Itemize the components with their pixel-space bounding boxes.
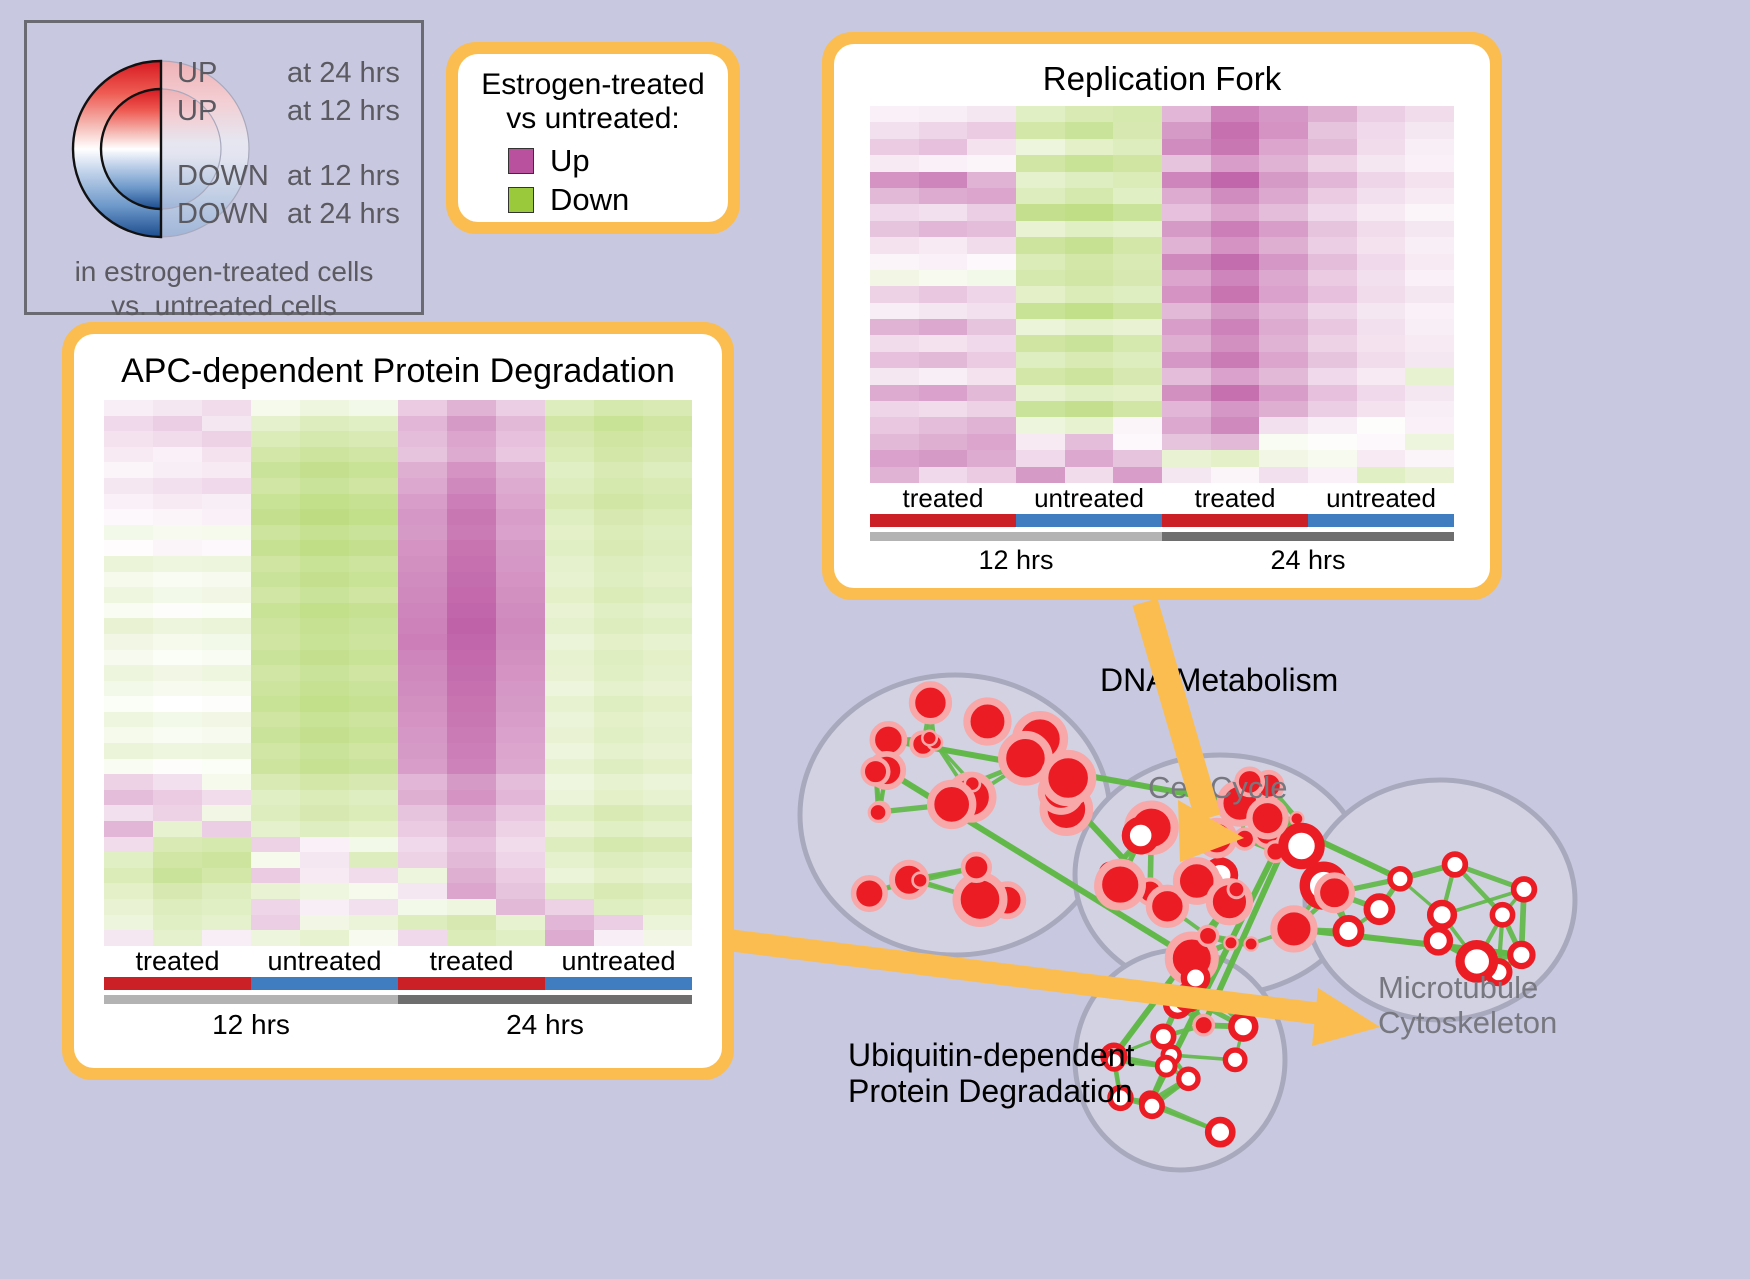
heatmap-cell xyxy=(349,618,398,634)
heatmap-cell xyxy=(967,303,1016,319)
heatmap-cell xyxy=(870,254,919,270)
heatmap-cell xyxy=(251,634,300,650)
heatmap-cell xyxy=(153,790,202,806)
heatmap-cell xyxy=(202,462,251,478)
heatmap-cell xyxy=(594,930,643,946)
heatmap-cell xyxy=(349,743,398,759)
network-node[interactable] xyxy=(1228,881,1245,898)
heatmap-cell xyxy=(398,650,447,666)
heatmap-cell xyxy=(153,915,202,931)
heatmap-cell xyxy=(594,852,643,868)
heatmap-cell xyxy=(349,821,398,837)
heatmap-cell xyxy=(1113,106,1162,122)
network-node[interactable] xyxy=(1044,754,1092,802)
heatmap-cell xyxy=(1162,368,1211,384)
heatmap-cell xyxy=(1405,270,1454,286)
heatmap-cell xyxy=(349,665,398,681)
heatmap-cell xyxy=(967,286,1016,302)
heatmap-cell xyxy=(919,319,968,335)
heatmap-cell xyxy=(1113,204,1162,220)
heatmap-cell xyxy=(153,540,202,556)
heatmap-cell xyxy=(300,883,349,899)
heatmap-cell xyxy=(643,681,692,697)
network-node[interactable] xyxy=(1445,854,1466,875)
legend-item-down: Down xyxy=(508,182,710,218)
heatmap-cell xyxy=(447,712,496,728)
label-line-2: Cytoskeleton xyxy=(1378,1005,1557,1040)
heatmap-cell xyxy=(1259,352,1308,368)
heatmap-cell xyxy=(251,556,300,572)
network-node[interactable] xyxy=(922,731,937,746)
heatmap-cell xyxy=(1405,106,1454,122)
heatmap-cell xyxy=(1162,467,1211,483)
heatmap-cell xyxy=(919,106,968,122)
network-node[interactable] xyxy=(1430,903,1454,927)
heatmap-cell xyxy=(447,478,496,494)
heatmap-cell xyxy=(202,540,251,556)
heatmap-cell xyxy=(349,587,398,603)
heatmap-cell xyxy=(870,172,919,188)
heatmap-cell xyxy=(398,603,447,619)
network-node[interactable] xyxy=(1225,1050,1245,1070)
heatmap-cell xyxy=(545,509,594,525)
heatmap-cell xyxy=(545,478,594,494)
heatmap-cell xyxy=(594,790,643,806)
heatmap-cell xyxy=(1357,467,1406,483)
heatmap-cell xyxy=(1113,155,1162,171)
axis-treatment-bar xyxy=(870,514,1454,527)
heatmap-cell xyxy=(919,286,968,302)
heatmap-cell xyxy=(251,416,300,432)
heatmap-cell xyxy=(1162,385,1211,401)
heatmap-cell xyxy=(153,525,202,541)
heatmap-cell xyxy=(967,450,1016,466)
heatmap-cell xyxy=(251,821,300,837)
network-node[interactable] xyxy=(1098,863,1142,907)
heatmap-cell xyxy=(202,556,251,572)
heatmap-cell xyxy=(202,494,251,510)
heatmap-cell xyxy=(398,572,447,588)
heatmap-cell xyxy=(349,681,398,697)
heatmap-cell xyxy=(1113,417,1162,433)
network-node[interactable] xyxy=(931,783,973,825)
heatmap-cell xyxy=(300,431,349,447)
heatmap-cell xyxy=(594,883,643,899)
heatmap-cell xyxy=(300,618,349,634)
heatmap-cell xyxy=(1308,122,1357,138)
heatmap-cell xyxy=(1065,254,1114,270)
heatmap-cell xyxy=(202,587,251,603)
heatmap-cell xyxy=(300,603,349,619)
updown-direction: UP xyxy=(177,97,287,126)
heatmap-cell xyxy=(104,478,153,494)
heatmap-cell xyxy=(1308,139,1357,155)
heatmap-cell xyxy=(545,883,594,899)
network-node[interactable] xyxy=(1224,936,1237,949)
network-node[interactable] xyxy=(1200,821,1235,856)
heatmap-cell xyxy=(1162,155,1211,171)
heatmap-cell xyxy=(545,494,594,510)
network-node[interactable] xyxy=(1317,875,1352,910)
network-node[interactable] xyxy=(1126,821,1156,851)
heatmap-cell xyxy=(967,385,1016,401)
heatmap-cell xyxy=(594,727,643,743)
heatmap-cell xyxy=(545,712,594,728)
heatmap-cell xyxy=(1065,172,1114,188)
down-colour-swatch xyxy=(508,187,534,213)
network-node[interactable] xyxy=(1184,966,1207,989)
heatmap-cell xyxy=(545,774,594,790)
network-node[interactable] xyxy=(913,873,928,888)
heatmap-cell xyxy=(1308,368,1357,384)
heatmap-cell xyxy=(870,270,919,286)
heatmap-cell xyxy=(300,540,349,556)
heatmap-cell xyxy=(967,221,1016,237)
heatmap-cell xyxy=(967,172,1016,188)
heatmap-cell xyxy=(104,868,153,884)
heatmap-cell xyxy=(1162,237,1211,253)
up-colour-swatch xyxy=(508,148,534,174)
heatmap-cell xyxy=(251,509,300,525)
heatmap-cell xyxy=(349,416,398,432)
estrogen-legend-items: Up Down xyxy=(476,143,710,218)
heatmap-cell xyxy=(398,759,447,775)
heatmap-cell xyxy=(1162,434,1211,450)
heatmap-cell xyxy=(447,572,496,588)
network-node[interactable] xyxy=(1153,1026,1173,1046)
network-node[interactable] xyxy=(1514,879,1535,900)
heatmap-cell xyxy=(447,650,496,666)
heatmap-cell xyxy=(643,462,692,478)
heatmap-cell xyxy=(1357,417,1406,433)
heatmap-cell xyxy=(202,883,251,899)
heatmap-cell xyxy=(643,665,692,681)
network-node[interactable] xyxy=(1194,1015,1213,1034)
heatmap-cell xyxy=(104,462,153,478)
network-node[interactable] xyxy=(1157,1057,1175,1075)
axis-group-labels: treated untreated treated untreated xyxy=(870,483,1454,514)
untreated-bar-24h xyxy=(1308,514,1454,527)
heatmap-cell xyxy=(1162,139,1211,155)
network-node[interactable] xyxy=(1179,1069,1198,1088)
heatmap-cell xyxy=(870,417,919,433)
heatmap-cell xyxy=(496,821,545,837)
heatmap-cell xyxy=(104,774,153,790)
network-node[interactable] xyxy=(1283,828,1319,864)
updown-timepoint: at 24 hrs xyxy=(287,200,400,229)
heatmap-cell xyxy=(1211,401,1260,417)
heatmap-cell xyxy=(1162,270,1211,286)
heatmap-cell xyxy=(300,634,349,650)
heatmap-cell xyxy=(447,540,496,556)
heatmap-cell xyxy=(1065,204,1114,220)
heatmap-cell xyxy=(104,540,153,556)
network-node[interactable] xyxy=(1231,1015,1255,1039)
heatmap-cell xyxy=(1211,155,1260,171)
heatmap-cell xyxy=(1113,237,1162,253)
heatmap-cell xyxy=(1259,172,1308,188)
heatmap-cell xyxy=(1065,450,1114,466)
heatmap-cell xyxy=(349,494,398,510)
treated-bar-12h xyxy=(870,514,1016,527)
heatmap-cell xyxy=(104,712,153,728)
heatmap-cell xyxy=(1308,188,1357,204)
heatmap-cell xyxy=(398,883,447,899)
heatmap-cell xyxy=(251,431,300,447)
cluster-label-ubiquitin-degradation: Ubiquitin-dependent Protein Degradation xyxy=(848,1037,1134,1110)
heatmap-cell xyxy=(496,494,545,510)
heatmap-cell xyxy=(1211,139,1260,155)
heatmap-cell xyxy=(349,447,398,463)
heatmap-cell xyxy=(496,774,545,790)
network-node[interactable] xyxy=(1510,944,1532,966)
heatmap-cell xyxy=(870,401,919,417)
network-node[interactable] xyxy=(1249,800,1285,836)
replication-fork-axis: treated untreated treated untreated 12 h xyxy=(870,483,1454,576)
heatmap-cell xyxy=(1211,450,1260,466)
heatmap-cell xyxy=(1016,385,1065,401)
heatmap-cell xyxy=(1065,401,1114,417)
heatmap-cell xyxy=(1065,106,1114,122)
heatmap-cell xyxy=(1308,434,1357,450)
heatmap-cell xyxy=(398,462,447,478)
heatmap-cell xyxy=(447,447,496,463)
heatmap-cell xyxy=(545,400,594,416)
heatmap-cell xyxy=(398,915,447,931)
heatmap-cell xyxy=(496,462,545,478)
heatmap-cell xyxy=(1211,352,1260,368)
heatmap-cell xyxy=(545,431,594,447)
heatmap-cell xyxy=(1016,106,1065,122)
network-node[interactable] xyxy=(912,684,949,721)
heatmap-cell xyxy=(1211,106,1260,122)
heatmap-cell xyxy=(545,634,594,650)
heatmap-cell xyxy=(251,478,300,494)
heatmap-cell xyxy=(1016,270,1065,286)
heatmap-cell xyxy=(202,696,251,712)
heatmap-cell xyxy=(447,805,496,821)
heatmap-cell xyxy=(1113,303,1162,319)
heatmap-cell xyxy=(251,603,300,619)
heatmap-cell xyxy=(496,743,545,759)
network-node[interactable] xyxy=(1198,926,1217,945)
apc-degradation-panel: APC-dependent Protein Degradation treate… xyxy=(62,322,734,1080)
estrogen-legend-card: Estrogen-treated vs untreated: Up Down xyxy=(446,42,740,234)
network-node[interactable] xyxy=(967,701,1008,742)
heatmap-cell xyxy=(398,681,447,697)
title-line-1: Estrogen-treated xyxy=(476,68,710,102)
heatmap-cell xyxy=(1065,368,1114,384)
axis-treatment-bar xyxy=(104,977,692,990)
time-label: 24 hrs xyxy=(398,1004,692,1041)
heatmap-cell xyxy=(545,556,594,572)
heatmap-cell xyxy=(594,759,643,775)
network-node[interactable] xyxy=(957,876,1004,923)
heatmap-cell xyxy=(1259,106,1308,122)
updown-key-caption: in estrogen-treated cells vs. untreated … xyxy=(27,255,421,323)
heatmap-cell xyxy=(919,254,968,270)
untreated-bar-12h xyxy=(251,977,398,990)
heatmap-cell xyxy=(1065,237,1114,253)
heatmap-cell xyxy=(1016,172,1065,188)
heatmap-cell xyxy=(300,665,349,681)
network-node[interactable] xyxy=(863,759,889,785)
heatmap-cell xyxy=(496,915,545,931)
heatmap-cell xyxy=(1065,385,1114,401)
time-bar-24h xyxy=(1162,532,1454,541)
heatmap-cell xyxy=(643,759,692,775)
heatmap-cell xyxy=(104,665,153,681)
heatmap-cell xyxy=(251,727,300,743)
heatmap-cell xyxy=(104,821,153,837)
axis-group-labels: treated untreated treated untreated xyxy=(104,946,692,977)
heatmap-cell xyxy=(643,774,692,790)
network-node[interactable] xyxy=(1427,929,1450,952)
title-line-2: vs untreated: xyxy=(476,102,710,136)
network-node[interactable] xyxy=(1245,937,1258,950)
heatmap-cell xyxy=(104,727,153,743)
heatmap-cell xyxy=(1211,204,1260,220)
heatmap-cell xyxy=(447,727,496,743)
heatmap-cell xyxy=(919,434,968,450)
heatmap-cell xyxy=(919,385,968,401)
network-node[interactable] xyxy=(1274,909,1314,949)
network-node[interactable] xyxy=(1336,918,1361,943)
heatmap-cell xyxy=(1016,139,1065,155)
heatmap-cell xyxy=(1259,450,1308,466)
heatmap-cell xyxy=(349,759,398,775)
heatmap-cell xyxy=(251,883,300,899)
heatmap-cell xyxy=(1259,139,1308,155)
heatmap-cell xyxy=(643,899,692,915)
updown-colour-key: UP at 24 hrs UP at 12 hrs DOWN at 12 hrs… xyxy=(24,20,424,315)
network-node[interactable] xyxy=(1208,1120,1232,1144)
label-line-1: Microtubule xyxy=(1378,970,1557,1005)
heatmap-cell xyxy=(202,774,251,790)
heatmap-cell xyxy=(643,556,692,572)
heatmap-cell xyxy=(349,899,398,915)
heatmap-cell xyxy=(202,805,251,821)
heatmap-cell xyxy=(251,790,300,806)
heatmap-cell xyxy=(1016,352,1065,368)
network-node[interactable] xyxy=(1367,897,1392,922)
heatmap-cell xyxy=(251,696,300,712)
network-node[interactable] xyxy=(1492,905,1512,925)
heatmap-cell xyxy=(1211,434,1260,450)
heatmap-cell xyxy=(967,254,1016,270)
heatmap-cell xyxy=(496,603,545,619)
heatmap-cell xyxy=(1259,417,1308,433)
heatmap-cell xyxy=(202,634,251,650)
network-node[interactable] xyxy=(1142,1096,1162,1116)
heatmap-cell xyxy=(1162,352,1211,368)
network-node[interactable] xyxy=(854,878,886,910)
heatmap-cell xyxy=(1113,401,1162,417)
heatmap-cell xyxy=(398,416,447,432)
heatmap-cell xyxy=(1405,319,1454,335)
network-node[interactable] xyxy=(1390,869,1410,889)
heatmap-cell xyxy=(1016,319,1065,335)
heatmap-cell xyxy=(870,352,919,368)
heatmap-cell xyxy=(594,743,643,759)
heatmap-cell xyxy=(545,899,594,915)
heatmap-cell xyxy=(349,883,398,899)
heatmap-cell xyxy=(496,478,545,494)
heatmap-cell xyxy=(545,603,594,619)
heatmap-cell xyxy=(202,478,251,494)
heatmap-cell xyxy=(300,930,349,946)
heatmap-cell xyxy=(1211,286,1260,302)
heatmap-cell xyxy=(1211,270,1260,286)
updown-direction: UP xyxy=(177,59,287,88)
heatmap-cell xyxy=(1065,417,1114,433)
heatmap-cell xyxy=(594,556,643,572)
heatmap-cell xyxy=(1211,254,1260,270)
heatmap-cell xyxy=(104,494,153,510)
heatmap-cell xyxy=(643,696,692,712)
heatmap-cell xyxy=(1259,204,1308,220)
heatmap-cell xyxy=(447,462,496,478)
heatmap-cell xyxy=(1405,155,1454,171)
heatmap-cell xyxy=(594,509,643,525)
heatmap-cell xyxy=(1405,139,1454,155)
heatmap-cell xyxy=(643,821,692,837)
heatmap-cell xyxy=(1016,467,1065,483)
heatmap-cell xyxy=(919,172,968,188)
updown-direction: DOWN xyxy=(177,162,287,191)
heatmap-cell xyxy=(153,774,202,790)
heatmap-cell xyxy=(398,525,447,541)
time-label: 24 hrs xyxy=(1162,541,1454,576)
heatmap-cell xyxy=(398,837,447,853)
network-node[interactable] xyxy=(963,854,990,881)
heatmap-cell xyxy=(1405,122,1454,138)
heatmap-cell xyxy=(1113,335,1162,351)
heatmap-cell xyxy=(1211,417,1260,433)
heatmap-cell xyxy=(153,743,202,759)
heatmap-cell xyxy=(1065,303,1114,319)
heatmap-cell xyxy=(349,696,398,712)
cluster-label-cell-cycle: Cell Cycle xyxy=(1148,770,1288,805)
group-label: untreated xyxy=(1308,483,1454,514)
heatmap-cell xyxy=(643,587,692,603)
heatmap-cell xyxy=(349,462,398,478)
network-node[interactable] xyxy=(869,804,887,822)
heatmap-cell xyxy=(545,540,594,556)
heatmap-cell xyxy=(967,237,1016,253)
heatmap-cell xyxy=(496,618,545,634)
heatmap-cell xyxy=(251,572,300,588)
heatmap-cell xyxy=(1113,319,1162,335)
heatmap-cell xyxy=(398,821,447,837)
heatmap-cell xyxy=(496,852,545,868)
heatmap-cell xyxy=(398,805,447,821)
heatmap-cell xyxy=(251,805,300,821)
heatmap-cell xyxy=(1211,221,1260,237)
heatmap-cell xyxy=(300,743,349,759)
heatmap-cell xyxy=(202,650,251,666)
heatmap-cell xyxy=(594,899,643,915)
heatmap-cell xyxy=(870,286,919,302)
heatmap-cell xyxy=(1357,139,1406,155)
heatmap-cell xyxy=(251,899,300,915)
heatmap-cell xyxy=(643,650,692,666)
heatmap-cell xyxy=(300,556,349,572)
heatmap-cell xyxy=(870,237,919,253)
heatmap-cell xyxy=(1113,467,1162,483)
heatmap-cell xyxy=(1405,401,1454,417)
heatmap-cell xyxy=(1016,401,1065,417)
